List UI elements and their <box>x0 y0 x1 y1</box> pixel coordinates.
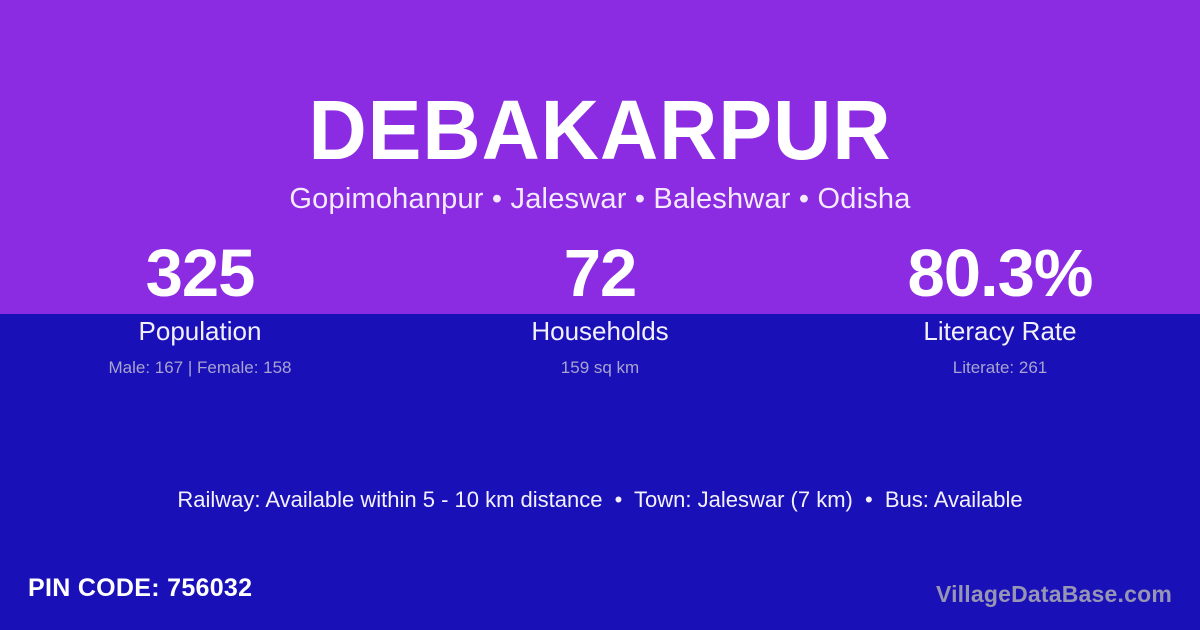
stat-value: 72 <box>400 238 800 312</box>
stat-label: Population <box>0 314 400 348</box>
stat-label: Literacy Rate <box>800 314 1200 348</box>
stat-sublabel: Literate: 261 <box>800 356 1200 380</box>
stat-literacy-rate: 80.3% Literacy Rate Literate: 261 <box>800 238 1200 380</box>
stat-sublabel: Male: 167 | Female: 158 <box>0 356 400 380</box>
card-footer: PIN CODE: 756032 VillageDataBase.com <box>0 570 1200 616</box>
page-title: DEBAKARPUR <box>24 88 1176 172</box>
amenity-bus: Bus: Available <box>885 487 1023 512</box>
stat-population: 325 Population Male: 167 | Female: 158 <box>0 238 400 380</box>
site-brand-label: VillageDataBase.com <box>936 576 1172 612</box>
stat-value: 325 <box>0 238 400 312</box>
stat-value: 80.3% <box>800 238 1200 312</box>
amenities-line: Railway: Available within 5 - 10 km dist… <box>0 485 1200 515</box>
stat-label: Households <box>400 314 800 348</box>
stats-row: 325 Population Male: 167 | Female: 158 7… <box>0 238 1200 380</box>
amenity-separator-icon: • <box>859 487 879 512</box>
amenity-separator-icon: • <box>609 487 629 512</box>
stat-households: 72 Households 159 sq km <box>400 238 800 380</box>
village-info-card: DEBAKARPUR Gopimohanpur • Jaleswar • Bal… <box>0 0 1200 630</box>
amenity-railway: Railway: Available within 5 - 10 km dist… <box>177 487 602 512</box>
stat-sublabel: 159 sq km <box>400 356 800 380</box>
pin-code-label: PIN CODE: 756032 <box>28 570 252 606</box>
amenity-town: Town: Jaleswar (7 km) <box>634 487 853 512</box>
breadcrumb: Gopimohanpur • Jaleswar • Baleshwar • Od… <box>0 182 1200 217</box>
